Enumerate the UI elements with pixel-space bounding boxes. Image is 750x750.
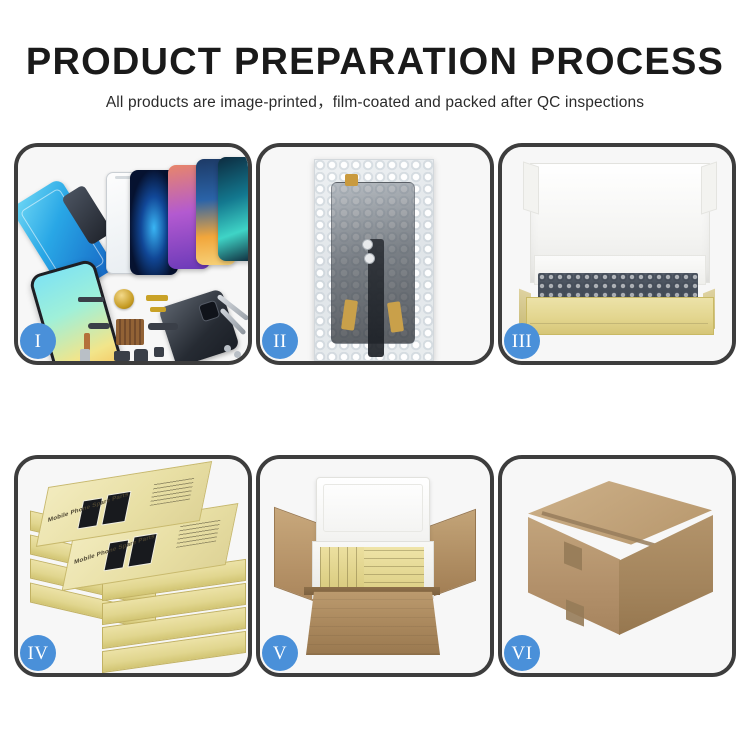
kraft-box-front-icon: [526, 297, 714, 335]
part-gold-connector-icon: [150, 307, 166, 312]
stacked-boxes-scene: Mobile Phone Spare Parts Mobile Phone Sp…: [18, 459, 248, 673]
step-badge-2: II: [262, 323, 298, 359]
step-badge-3: III: [504, 323, 540, 359]
page-subtitle: All products are image-printed，film-coat…: [0, 84, 750, 112]
step-3-image: [502, 147, 732, 361]
phone-parts-scene: [18, 147, 248, 361]
screw-icon: [234, 351, 241, 358]
step-2-image: [260, 147, 490, 361]
step-5-image: [260, 459, 490, 673]
part-silver-bracket-icon: [80, 349, 90, 361]
speaker-coil-icon: [114, 289, 134, 309]
part-long-flex-icon: [148, 323, 178, 330]
process-step-2: II: [256, 143, 494, 365]
process-step-grid: I II: [14, 143, 736, 677]
step-6-image: [502, 459, 732, 673]
bubble-wrap-bag-icon: [314, 159, 434, 361]
part-camera-icon: [134, 349, 148, 361]
step-4-image: Mobile Phone Spare Parts Mobile Phone Sp…: [18, 459, 248, 673]
screw-icon: [224, 345, 231, 352]
step-badge-6: VI: [504, 635, 540, 671]
carton-front-icon: [306, 591, 440, 655]
box-seam-icon: [530, 323, 708, 324]
part-cable-icon: [88, 323, 110, 329]
page-header: PRODUCT PREPARATION PROCESS All products…: [0, 0, 750, 112]
chip-grid-icon: [116, 319, 144, 345]
open-kraft-box-scene: [502, 147, 732, 361]
connector-dot-icon: [364, 253, 375, 264]
process-step-6: VI: [498, 455, 736, 677]
step-badge-5: V: [262, 635, 298, 671]
process-step-1: I: [14, 143, 252, 365]
connector-dot-icon: [362, 239, 373, 250]
page-title: PRODUCT PREPARATION PROCESS: [0, 0, 750, 84]
process-step-5: V: [256, 455, 494, 677]
part-sensor-icon: [154, 347, 164, 357]
box-spec-lines-icon: [150, 477, 195, 506]
step-badge-4: IV: [20, 635, 56, 671]
part-strip-icon: [78, 297, 104, 302]
foam-lid-icon: [316, 477, 430, 547]
tape-strip-icon: [345, 174, 358, 186]
sealed-carton-scene: [502, 459, 732, 673]
bubble-wrap-scene: [260, 147, 490, 361]
carton-corrugation-icon: [307, 592, 439, 654]
part-gold-flex-icon: [146, 295, 168, 301]
process-step-4: Mobile Phone Spare Parts Mobile Phone Sp…: [14, 455, 252, 677]
process-step-3: III: [498, 143, 736, 365]
carton-foam-scene: [260, 459, 490, 673]
part-module-icon: [114, 351, 130, 361]
step-1-image: [18, 147, 248, 361]
step-badge-1: I: [20, 323, 56, 359]
sealed-carton-icon: [516, 481, 724, 653]
teal-phone-icon: [218, 157, 248, 261]
box-stack-icon: Mobile Phone Spare Parts Mobile Phone Sp…: [28, 473, 246, 669]
packed-yellow-boxes-icon: [320, 547, 424, 591]
